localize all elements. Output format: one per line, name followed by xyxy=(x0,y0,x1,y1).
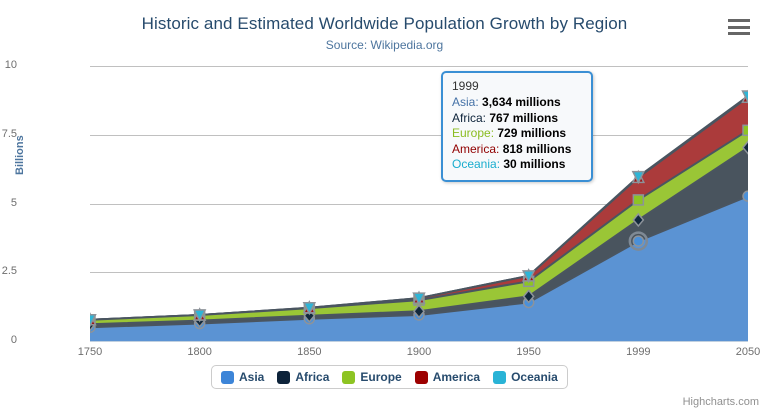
legend-swatch xyxy=(277,371,290,384)
legend-item-europe[interactable]: Europe xyxy=(342,370,401,384)
point-marker-asia-1999[interactable] xyxy=(633,236,643,246)
tooltip-header: 1999 xyxy=(452,79,582,93)
legend: AsiaAfricaEuropeAmericaOceania xyxy=(211,365,568,389)
plot-area xyxy=(90,66,748,341)
menu-bar-2 xyxy=(728,26,750,29)
tooltip-series-name: Europe: xyxy=(452,126,497,140)
y-axis-tick-label: 7.5 xyxy=(0,128,17,140)
tooltip-rows: Asia: 3,634 millionsAfrica: 767 millions… xyxy=(452,95,582,173)
legend-swatch xyxy=(221,371,234,384)
grid-line xyxy=(90,341,748,342)
x-axis-tick-label: 1800 xyxy=(160,346,240,358)
tooltip-series-value: 767 millions xyxy=(489,111,558,125)
tooltip: 1999 Asia: 3,634 millionsAfrica: 767 mil… xyxy=(441,71,593,182)
tooltip-series-name: America: xyxy=(452,142,503,156)
legend-label: Asia xyxy=(239,370,264,384)
y-axis-tick-label: 2.5 xyxy=(0,265,17,277)
tooltip-series-name: Asia: xyxy=(452,95,482,109)
x-axis-tick-label: 1950 xyxy=(489,346,569,358)
legend-swatch xyxy=(415,371,428,384)
legend-item-africa[interactable]: Africa xyxy=(277,370,329,384)
menu-bar-3 xyxy=(728,32,750,35)
legend-label: Europe xyxy=(360,370,401,384)
legend-swatch xyxy=(342,371,355,384)
point-marker-europe-2050[interactable] xyxy=(743,125,748,135)
tooltip-row-oceania: Oceania: 30 millions xyxy=(452,157,582,173)
tooltip-row-america: America: 818 millions xyxy=(452,142,582,158)
y-axis-tick-label: 10 xyxy=(0,59,17,71)
tooltip-series-value: 729 millions xyxy=(497,126,566,140)
chart-title: Historic and Estimated Worldwide Populat… xyxy=(0,14,769,34)
point-marker-asia-2050[interactable] xyxy=(743,191,748,201)
tooltip-series-value: 3,634 millions xyxy=(482,95,561,109)
chart-subtitle: Source: Wikipedia.org xyxy=(0,38,769,52)
tooltip-series-name: Oceania: xyxy=(452,157,503,171)
legend-item-oceania[interactable]: Oceania xyxy=(493,370,558,384)
tooltip-series-value: 818 millions xyxy=(503,142,572,156)
legend-item-america[interactable]: America xyxy=(415,370,480,384)
tooltip-row-africa: Africa: 767 millions xyxy=(452,111,582,127)
y-axis-title: Billions xyxy=(14,135,26,175)
legend-label: Oceania xyxy=(511,370,558,384)
tooltip-row-europe: Europe: 729 millions xyxy=(452,126,582,142)
legend-swatch xyxy=(493,371,506,384)
x-axis-tick-label: 1900 xyxy=(379,346,459,358)
tooltip-series-value: 30 millions xyxy=(503,157,565,171)
legend-label: America xyxy=(433,370,480,384)
x-axis-tick-label: 1850 xyxy=(269,346,349,358)
menu-bar-1 xyxy=(728,19,750,22)
x-axis-tick-label: 2050 xyxy=(708,346,769,358)
legend-item-asia[interactable]: Asia xyxy=(221,370,264,384)
legend-label: Africa xyxy=(295,370,329,384)
x-axis-tick-label: 1999 xyxy=(598,346,678,358)
x-axis-tick-label: 1750 xyxy=(50,346,130,358)
y-axis-tick-label: 5 xyxy=(0,197,17,209)
series-plot xyxy=(90,66,748,341)
tooltip-series-name: Africa: xyxy=(452,111,489,125)
tooltip-row-asia: Asia: 3,634 millions xyxy=(452,95,582,111)
credits-label[interactable]: Highcharts.com xyxy=(683,396,759,408)
y-axis-tick-label: 0 xyxy=(0,334,17,346)
point-marker-europe-1999[interactable] xyxy=(633,195,643,205)
hamburger-menu-icon[interactable] xyxy=(728,18,752,36)
highcharts-chart: Historic and Estimated Worldwide Populat… xyxy=(0,0,769,416)
